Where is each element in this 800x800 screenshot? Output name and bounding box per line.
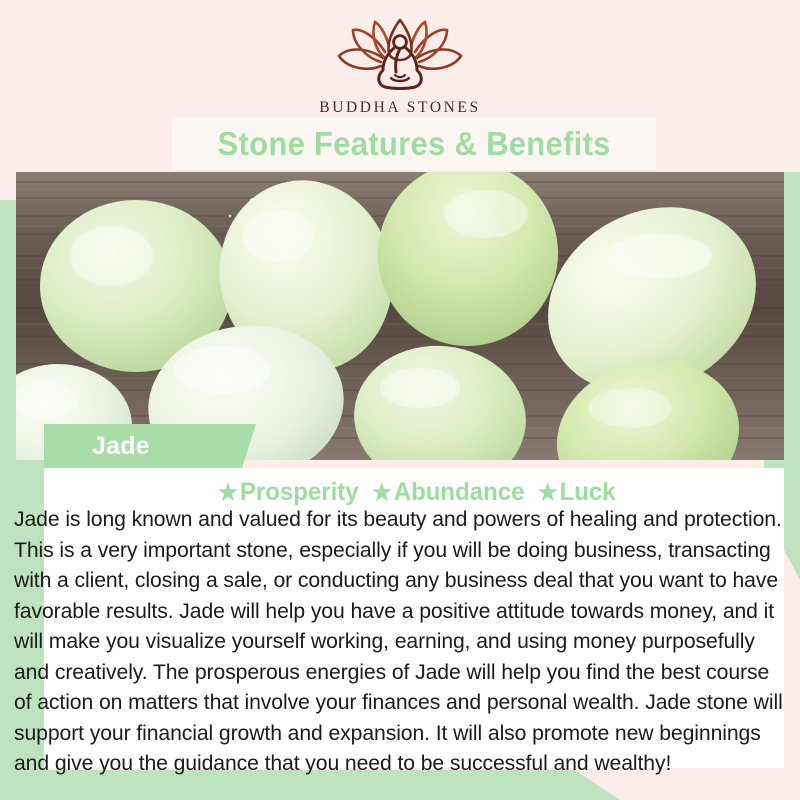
brand-logo: BUDDHA STONES xyxy=(0,18,800,117)
benefit-label: Prosperity xyxy=(240,478,359,506)
benefit-label: Luck xyxy=(560,478,616,506)
stone-name-banner: Jade xyxy=(44,424,256,468)
lotus-meditation-icon xyxy=(325,18,475,95)
star-icon: ★ xyxy=(538,479,558,505)
benefit-label: Abundance xyxy=(394,478,525,506)
page-title: Stone Features & Benefits xyxy=(217,125,610,163)
description-text: Jade is long known and valued for its be… xyxy=(14,504,784,779)
title-banner: Stone Features & Benefits xyxy=(172,117,656,170)
star-icon: ★ xyxy=(218,479,238,505)
benefits-list: ★Prosperity★Abundance★Luck xyxy=(59,478,769,507)
star-icon: ★ xyxy=(372,479,392,505)
stone-name: Jade xyxy=(92,432,150,461)
stone-photo xyxy=(16,168,784,460)
brand-name: BUDDHA STONES xyxy=(319,99,480,117)
